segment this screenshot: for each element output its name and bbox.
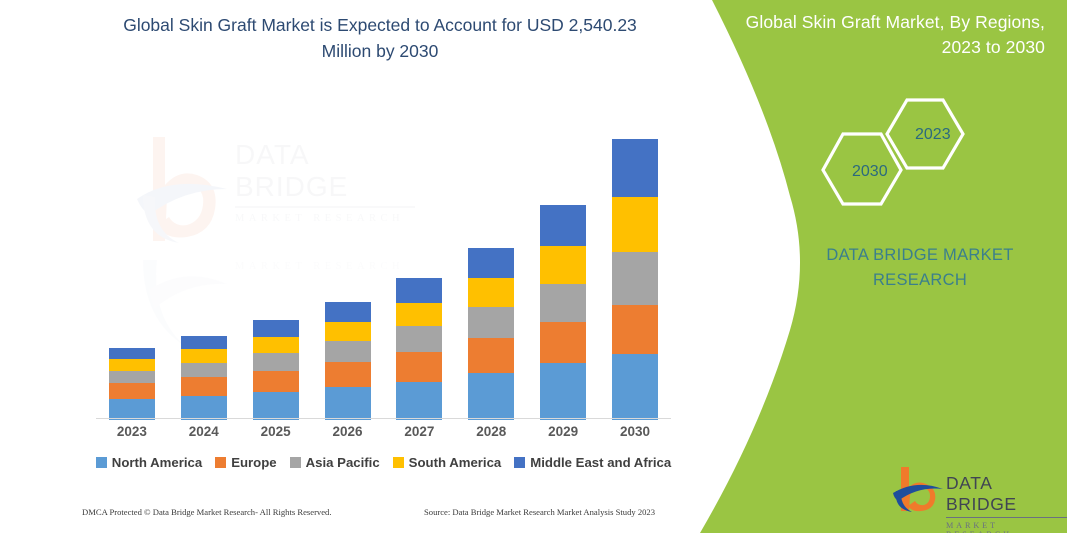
bar-segment-europe[interactable] (540, 322, 586, 363)
bar-2023[interactable] (109, 348, 155, 420)
legend-swatch-icon (96, 457, 107, 468)
x-axis-label-2029: 2029 (528, 424, 598, 439)
hex-label-2023: 2023 (915, 126, 951, 144)
x-axis-label-2027: 2027 (384, 424, 454, 439)
bar-segment-europe[interactable] (396, 352, 442, 382)
panel-title: Global Skin Graft Market, By Regions, 20… (725, 10, 1045, 61)
footer-copyright: DMCA Protected © Data Bridge Market Rese… (82, 507, 332, 517)
bar-segment-north-america[interactable] (181, 396, 227, 420)
bar-segment-middle-east-and-africa[interactable] (396, 278, 442, 303)
bar-segment-north-america[interactable] (325, 387, 371, 420)
bar-segment-middle-east-and-africa[interactable] (253, 320, 299, 336)
bar-segment-asia-pacific[interactable] (396, 326, 442, 352)
bar-segment-south-america[interactable] (468, 278, 514, 307)
green-side-panel: Global Skin Graft Market, By Regions, 20… (640, 0, 1067, 533)
bar-segment-europe[interactable] (325, 362, 371, 387)
legend-label: Asia Pacific (306, 455, 380, 470)
legend-label: South America (409, 455, 502, 470)
bar-segment-asia-pacific[interactable] (181, 363, 227, 377)
bar-segment-europe[interactable] (109, 383, 155, 399)
legend-item-asia-pacific[interactable]: Asia Pacific (290, 455, 380, 470)
bar-segment-south-america[interactable] (396, 303, 442, 327)
data-bridge-logo-icon (892, 465, 944, 513)
page-title: Global Skin Graft Market is Expected to … (120, 12, 640, 65)
footer: DMCA Protected © Data Bridge Market Rese… (0, 503, 700, 527)
bar-segment-europe[interactable] (253, 371, 299, 392)
logo-title: DATA BRIDGE (946, 473, 1067, 518)
bar-2024[interactable] (181, 336, 227, 420)
bar-segment-south-america[interactable] (325, 322, 371, 341)
hexagon-outline-icon (815, 92, 990, 207)
bar-segment-south-america[interactable] (181, 349, 227, 363)
legend-swatch-icon (215, 457, 226, 468)
bar-segment-north-america[interactable] (540, 363, 586, 420)
bar-segment-middle-east-and-africa[interactable] (325, 302, 371, 322)
bar-segment-north-america[interactable] (253, 392, 299, 420)
bar-segment-asia-pacific[interactable] (325, 341, 371, 362)
legend-item-north-america[interactable]: North America (96, 455, 202, 470)
bar-segment-south-america[interactable] (253, 337, 299, 353)
bar-segment-asia-pacific[interactable] (109, 371, 155, 383)
bar-segment-asia-pacific[interactable] (468, 307, 514, 338)
footer-source: Source: Data Bridge Market Research Mark… (424, 507, 655, 517)
bar-segment-middle-east-and-africa[interactable] (181, 336, 227, 349)
panel-brand-text: DATA BRIDGE MARKET RESEARCH (795, 243, 1045, 293)
bar-segment-north-america[interactable] (396, 382, 442, 420)
bar-2029[interactable] (540, 205, 586, 420)
bar-2025[interactable] (253, 320, 299, 420)
hex-label-2030: 2030 (852, 163, 888, 181)
bar-segment-europe[interactable] (468, 338, 514, 373)
legend-item-europe[interactable]: Europe (215, 455, 276, 470)
chart-legend: North AmericaEuropeAsia PacificSouth Ame… (96, 455, 671, 470)
stacked-bar-plot (96, 110, 671, 420)
legend-swatch-icon (290, 457, 301, 468)
year-hexagons: 2023 2030 (815, 92, 990, 207)
legend-swatch-icon (393, 457, 404, 468)
bar-segment-asia-pacific[interactable] (253, 353, 299, 370)
bar-segment-europe[interactable] (181, 377, 227, 395)
legend-label: Europe (231, 455, 276, 470)
x-axis-label-2023: 2023 (97, 424, 167, 439)
bar-segment-south-america[interactable] (109, 359, 155, 371)
bar-segment-north-america[interactable] (109, 399, 155, 420)
x-axis-line (96, 418, 671, 419)
bar-2027[interactable] (396, 278, 442, 420)
legend-swatch-icon (514, 457, 525, 468)
infographic-root: Global Skin Graft Market is Expected to … (0, 0, 1067, 533)
x-axis-labels: 20232024202520262027202820292030 (96, 424, 671, 446)
x-axis-label-2024: 2024 (169, 424, 239, 439)
logo-subtitle: MARKET RESEARCH (946, 521, 1067, 533)
bar-2026[interactable] (325, 302, 371, 420)
bar-segment-south-america[interactable] (540, 246, 586, 284)
bar-segment-north-america[interactable] (468, 373, 514, 420)
x-axis-label-2025: 2025 (241, 424, 311, 439)
brand-logo: DATA BRIDGE MARKET RESEARCH (892, 465, 1067, 520)
bar-2028[interactable] (468, 248, 514, 420)
bar-segment-middle-east-and-africa[interactable] (468, 248, 514, 279)
bar-segment-middle-east-and-africa[interactable] (109, 348, 155, 359)
bar-segment-middle-east-and-africa[interactable] (540, 205, 586, 246)
legend-item-south-america[interactable]: South America (393, 455, 502, 470)
legend-label: North America (112, 455, 202, 470)
bar-segment-asia-pacific[interactable] (540, 284, 586, 322)
x-axis-label-2026: 2026 (313, 424, 383, 439)
x-axis-label-2028: 2028 (456, 424, 526, 439)
